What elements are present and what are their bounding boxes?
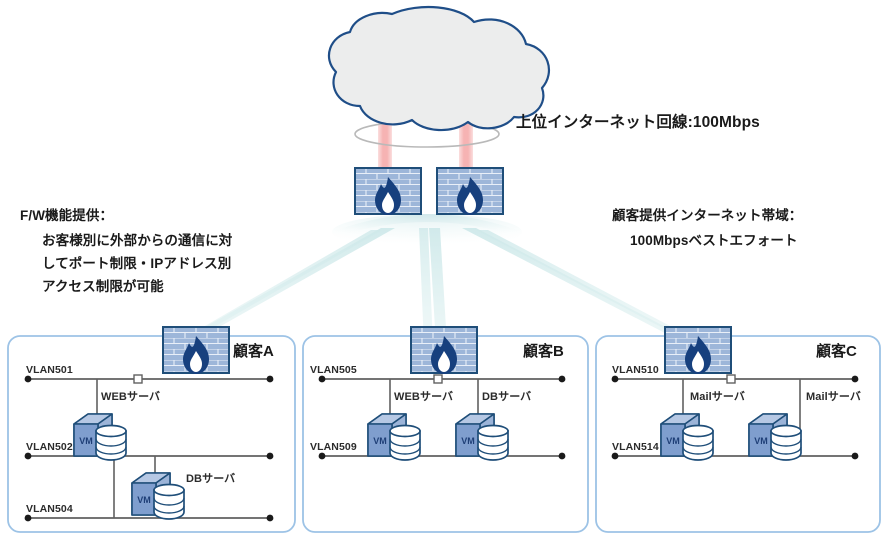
customer-c-title: 顧客C [816, 342, 857, 362]
customer-c-server-mail-1[interactable] [661, 414, 713, 460]
customer-b-vlan-0: VLAN505 [310, 364, 357, 378]
customer-b-server-db-label: DBサーバ [482, 390, 531, 405]
customer-c-firewall[interactable] [665, 327, 731, 374]
customer-c-server-mail-1-label: Mailサーバ [690, 390, 745, 405]
customer-a-vlan-2: VLAN504 [26, 503, 73, 517]
customer-boxes-layer: VM [0, 0, 888, 539]
customer-c-server-mail-2-label: Mailサーバ [806, 390, 861, 405]
customer-b-title: 顧客B [523, 342, 564, 362]
customer-b-server-web-label: WEBサーバ [394, 390, 453, 405]
network-diagram-canvas: 上位インターネット回線:100Mbps F/W機能提供： お客様別に外部からの通… [0, 0, 888, 539]
customer-a-vlan-0: VLAN501 [26, 364, 73, 378]
customer-a-vlan-1: VLAN502 [26, 441, 73, 455]
customer-b-server-web[interactable] [368, 414, 420, 460]
customer-a-server-db-label: DBサーバ [186, 472, 235, 487]
customer-a-title: 顧客A [233, 342, 274, 362]
customer-c-vlan-1: VLAN514 [612, 441, 659, 455]
customer-b-vlan-1: VLAN509 [310, 441, 357, 455]
customer-a-server-web[interactable] [74, 414, 126, 460]
customer-b-firewall[interactable] [411, 327, 477, 374]
customer-c-server-mail-2[interactable] [749, 414, 801, 460]
customer-c-vlan-0: VLAN510 [612, 364, 659, 378]
customer-a-server-db[interactable] [132, 473, 184, 519]
customer-b-server-db[interactable] [456, 414, 508, 460]
customer-a-server-web-label: WEBサーバ [101, 390, 160, 405]
customer-a-firewall[interactable] [163, 327, 229, 374]
